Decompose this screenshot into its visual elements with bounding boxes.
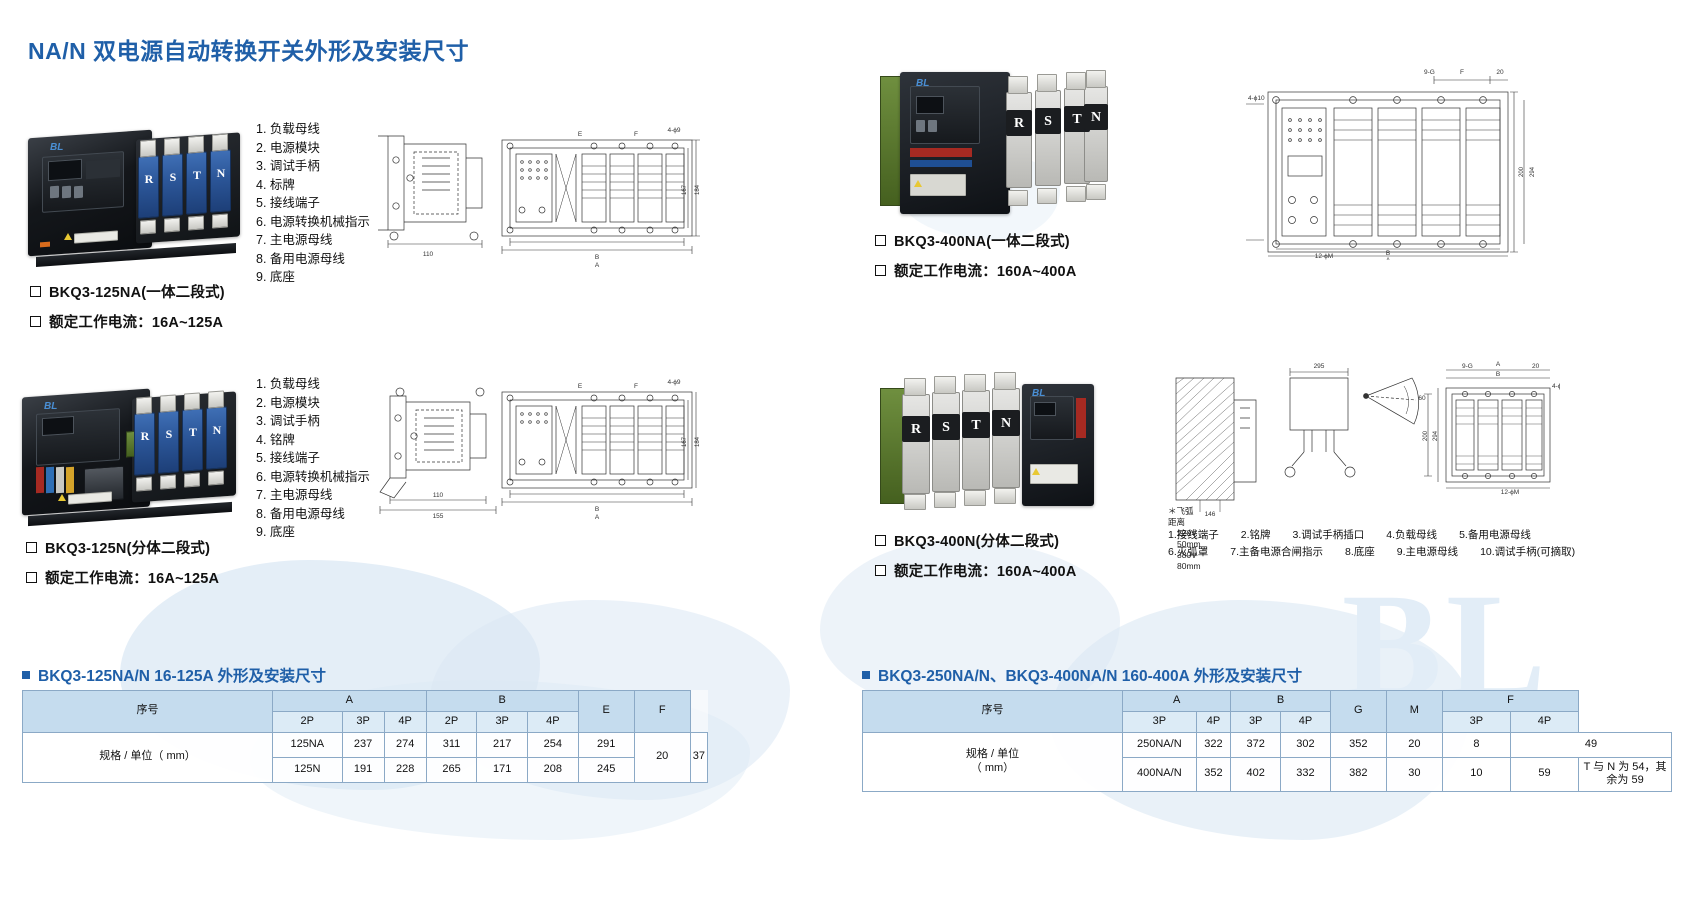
dim-label: E [578, 383, 583, 390]
table-400na-n-dimensions: 序号 A B G M F 3P 4P 3P 4P 3P 4P 规格 / 单位 （… [862, 690, 1672, 792]
subcol-a-3p: 3P [342, 711, 384, 732]
model-row[interactable]: 额定工作电流：16A~125A [30, 311, 225, 332]
arc-note-title: ＊飞弧距离 [1168, 506, 1201, 528]
legend-item: 9. 底座 [256, 268, 370, 287]
cell-f: 37 [690, 732, 707, 782]
col-header-f: F [1442, 691, 1578, 712]
legend-item: 5. 接线端子 [256, 194, 370, 213]
col-header-b: B [1231, 691, 1331, 712]
legend-item: 9.主电源母线 [1397, 544, 1458, 561]
subcol-b-3p: 3P [477, 711, 528, 732]
cell-b-2p: 171 [477, 757, 528, 782]
col-header-serial: 序号 [863, 691, 1123, 733]
dim-label: F [634, 131, 638, 138]
model-label: BKQ3-400NA(一体二段式) [894, 230, 1070, 251]
current-rating-label: 额定工作电流：16A~125A [45, 567, 219, 588]
dim-label: 4-ϕ10 [1552, 383, 1560, 390]
cell-b-4p: 382 [1330, 757, 1386, 792]
drawing-bkq3-400n: 295 146 60 9-G 20 4-ϕ10 A B 12-ϕM 294 20… [1160, 360, 1560, 520]
model-row[interactable]: BKQ3-400NA(一体二段式) [875, 230, 1077, 251]
legend-item: 6. 电源转换机械指示 [256, 468, 370, 487]
product-photo-bkq3-400n: R S T N BL [880, 368, 1095, 528]
col-header-g: G [1330, 691, 1386, 733]
cell-model: 400NA/N [1123, 757, 1197, 792]
legend-item: 2. 电源模块 [256, 139, 370, 158]
svg-text:167: 167 [682, 436, 688, 447]
table-row: 规格 / 单位 （ mm） 250NA/N 322 372 302 352 20… [863, 732, 1672, 757]
section-title: BKQ3-125NA/N 16-125A 外形及安装尺寸 [38, 664, 326, 686]
cell-a-4p: 265 [426, 757, 477, 782]
dim-label: 9-G [1462, 363, 1473, 370]
col-header-a: A [273, 691, 427, 712]
current-rating-label: 额定工作电流：160A~400A [894, 560, 1077, 581]
cell-f-4p: T 与 N 为 54，其余为 59 [1579, 757, 1672, 792]
dim-label: 4-ϕ9 [667, 379, 680, 386]
dim-label: A [595, 262, 600, 268]
legend-item: 8. 备用电源母线 [256, 250, 370, 269]
dim-label: 146 [1205, 511, 1216, 518]
model-row[interactable]: BKQ3-125N(分体二段式) [26, 537, 219, 558]
table-row: 规格 / 单位（ mm） 125NA 237 274 311 217 254 2… [23, 732, 708, 757]
dim-label: 110 [433, 492, 444, 499]
cell-a-4p: 372 [1231, 732, 1281, 757]
subcol-b-4p: 4P [1281, 711, 1331, 732]
table-125na-n-dimensions: 序号 A B E F 2P 3P 4P 2P 3P 4P 规格 / 单位（ mm… [22, 690, 708, 783]
model-row[interactable]: 额定工作电流：160A~400A [875, 260, 1077, 281]
checkbox-icon[interactable] [26, 572, 37, 583]
subcol-a-3p: 3P [1123, 711, 1197, 732]
pole-letter: N [212, 166, 230, 181]
legend-item: 2. 电源模块 [256, 394, 370, 413]
cell-b-3p: 254 [528, 732, 579, 757]
cell-b-2p: 217 [477, 732, 528, 757]
pole-letter: R [136, 429, 154, 444]
subcol-a-4p: 4P [1196, 711, 1231, 732]
subcol-f-3p: 3P [1442, 711, 1510, 732]
cell-b-3p: 208 [528, 757, 579, 782]
legend-item: 7. 主电源母线 [256, 486, 370, 505]
dim-label: B [595, 254, 599, 261]
legend-item: 3.调试手柄插口 [1293, 527, 1365, 544]
cell-b-4p: 245 [578, 757, 634, 782]
legend-item: 6.灭弧罩 [1168, 544, 1208, 561]
legend-item: 7.主备电源合闸指示 [1230, 544, 1323, 561]
checkbox-icon[interactable] [875, 265, 886, 276]
checkbox-icon[interactable] [30, 316, 41, 327]
cell-a-4p: 311 [426, 732, 477, 757]
model-label: BKQ3-125N(分体二段式) [45, 537, 210, 558]
cell-g: 30 [1386, 757, 1442, 792]
model-row[interactable]: 额定工作电流：160A~400A [875, 560, 1077, 581]
pole-letter: R [1006, 116, 1032, 132]
dim-label: A [1496, 361, 1501, 368]
page-title: NA/N 双电源自动转换开关外形及安装尺寸 [28, 32, 469, 66]
subcol-a-4p: 4P [384, 711, 426, 732]
dim-label: 12-ϕM [1315, 253, 1333, 260]
dim-label: 60 [1418, 395, 1426, 402]
col-header-serial: 序号 [23, 691, 273, 733]
dim-label: E [578, 131, 583, 138]
pole-letter: S [1035, 114, 1061, 130]
model-label: BKQ3-400N(分体二段式) [894, 530, 1059, 551]
dim-label: 155 [433, 513, 444, 520]
row-group-label-line2: （ mm） [865, 762, 1120, 776]
section-title: BKQ3-250NA/N、BKQ3-400NA/N 160-400A 外形及安装… [878, 664, 1302, 686]
bullet-square-icon [862, 671, 870, 679]
current-rating-label: 额定工作电流：16A~125A [49, 311, 223, 332]
pole-letter: S [160, 427, 178, 442]
cell-b-3p: 302 [1281, 732, 1331, 757]
dim-label: A [1386, 257, 1391, 260]
legend-item: 1. 负载母线 [256, 375, 370, 394]
models-bkq3-400na: BKQ3-400NA(一体二段式) 额定工作电流：160A~400A [875, 230, 1077, 290]
legend-bkq3-125n: 1. 负载母线 2. 电源模块 3. 调试手柄 4. 铭牌 5. 接线端子 6.… [256, 375, 370, 542]
legend-item: 7. 主电源母线 [256, 231, 370, 250]
product-photo-bkq3-125n: BL R S T N [22, 375, 237, 535]
subcol-b-4p: 4P [528, 711, 579, 732]
cell-a-2p: 237 [342, 732, 384, 757]
legend-item: 5.备用电源母线 [1459, 527, 1531, 544]
subcol-b-3p: 3P [1231, 711, 1281, 732]
drawing-bkq3-400na: 4-ϕ10 9-G F 20 B A 12-ϕM 200 294 [1228, 60, 1538, 260]
cell-b-4p: 352 [1330, 732, 1386, 757]
bullet-square-icon [22, 671, 30, 679]
model-row[interactable]: 额定工作电流：16A~125A [26, 567, 219, 588]
svg-text:200: 200 [1423, 430, 1429, 441]
models-bkq3-125n: BKQ3-125N(分体二段式) 额定工作电流：16A~125A [26, 537, 219, 597]
dim-label: B [1386, 250, 1390, 257]
model-row[interactable]: BKQ3-400N(分体二段式) [875, 530, 1077, 551]
subcol-a-2p: 2P [273, 711, 343, 732]
legend-item: 1. 负载母线 [256, 120, 370, 139]
dim-label: 4-ϕ10 [1248, 95, 1265, 102]
cell-m: 8 [1442, 732, 1510, 757]
pole-letter: N [992, 416, 1020, 432]
pole-letter: T [184, 425, 202, 440]
pole-letter: S [164, 170, 182, 185]
legend-item: 4. 标牌 [256, 176, 370, 195]
legend-item: 8. 备用电源母线 [256, 505, 370, 524]
dim-label: F [634, 383, 638, 390]
current-rating-label: 额定工作电流：160A~400A [894, 260, 1077, 281]
cell-a-3p: 352 [1196, 757, 1231, 792]
row-group-label-line1: 规格 / 单位 [865, 748, 1120, 762]
product-photo-bkq3-125na: BL R S T N [28, 120, 243, 270]
section-header-table-125: BKQ3-125NA/N 16-125A 外形及安装尺寸 [22, 664, 326, 686]
models-bkq3-125na: BKQ3-125NA(一体二段式) 额定工作电流：16A~125A [30, 281, 225, 341]
subcol-b-2p: 2P [426, 711, 477, 732]
subcol-f-4p: 4P [1510, 711, 1578, 732]
col-header-b: B [426, 691, 578, 712]
col-header-m: M [1386, 691, 1442, 733]
svg-text:200: 200 [1519, 166, 1525, 177]
legend-item: 3. 调试手柄 [256, 412, 370, 431]
dim-label: B [1496, 371, 1500, 378]
legend-item: 8.底座 [1345, 544, 1375, 561]
pole-letter: R [140, 172, 158, 187]
dim-label: 20 [1532, 363, 1540, 370]
cell-a-2p: 191 [342, 757, 384, 782]
legend-item: 9. 底座 [256, 523, 370, 542]
legend-item: 1.接线端子 [1168, 527, 1219, 544]
drawing-bkq3-125na: 110 E F 4-ϕ9 B A 167 184 [370, 118, 700, 268]
legend-item: 5. 接线端子 [256, 449, 370, 468]
svg-text:167: 167 [682, 184, 688, 195]
cell-model: 125N [273, 757, 343, 782]
checkbox-icon[interactable] [875, 535, 886, 546]
cell-a-4p: 402 [1231, 757, 1281, 792]
dim-label: 20 [1496, 69, 1504, 76]
dim-label: 110 [423, 251, 434, 258]
legend-item: 6. 电源转换机械指示 [256, 213, 370, 232]
dim-label: B [595, 506, 599, 513]
legend-item: 3. 调试手柄 [256, 157, 370, 176]
legend-bkq3-400n: 1.接线端子 2.铭牌 3.调试手柄插口 4.负载母线 5.备用电源母线 6.灭… [1168, 527, 1575, 561]
pole-letter: N [1084, 110, 1108, 126]
checkbox-icon[interactable] [875, 235, 886, 246]
cell-a-3p: 228 [384, 757, 426, 782]
section-header-table-400: BKQ3-250NA/N、BKQ3-400NA/N 160-400A 外形及安装… [862, 664, 1302, 686]
row-group-label: 规格 / 单位 （ mm） [863, 732, 1123, 792]
cell-model: 250NA/N [1123, 732, 1197, 757]
dim-label: 295 [1314, 363, 1325, 370]
cell-f: 49 [1510, 732, 1671, 757]
pole-letter: T [188, 168, 206, 183]
legend-item: 4.负载母线 [1386, 527, 1437, 544]
pole-letter: N [208, 423, 226, 438]
cell-a-3p: 322 [1196, 732, 1231, 757]
legend-item: 2.铭牌 [1241, 527, 1271, 544]
cell-a-3p: 274 [384, 732, 426, 757]
svg-text:294: 294 [1530, 166, 1536, 177]
checkbox-icon[interactable] [26, 542, 37, 553]
svg-text:184: 184 [695, 184, 700, 195]
cell-b-3p: 332 [1281, 757, 1331, 792]
col-header-e: E [578, 691, 634, 733]
dim-label: 9-G [1424, 69, 1435, 76]
svg-text:294: 294 [1433, 430, 1439, 441]
cell-e: 20 [634, 732, 690, 782]
model-row[interactable]: BKQ3-125NA(一体二段式) [30, 281, 225, 302]
cell-m: 10 [1442, 757, 1510, 792]
model-label: BKQ3-125NA(一体二段式) [49, 281, 225, 302]
dim-label: 12-ϕM [1501, 489, 1519, 496]
cell-f-3p: 59 [1510, 757, 1578, 792]
pole-letter: T [962, 418, 990, 434]
checkbox-icon[interactable] [30, 286, 41, 297]
dim-label: F [1460, 69, 1464, 76]
pole-letter: S [932, 420, 960, 436]
legend-item: 4. 铭牌 [256, 431, 370, 450]
drawing-bkq3-125n: 110 155 E F 4-ϕ9 B A 167 184 [370, 370, 700, 520]
cell-g: 20 [1386, 732, 1442, 757]
cell-model: 125NA [273, 732, 343, 757]
models-bkq3-400n: BKQ3-400N(分体二段式) 额定工作电流：160A~400A [875, 530, 1077, 590]
cell-b-4p: 291 [578, 732, 634, 757]
checkbox-icon[interactable] [875, 565, 886, 576]
dim-label: 4-ϕ9 [667, 127, 680, 134]
col-header-f: F [634, 691, 690, 733]
legend-item: 10.调试手柄(可摘取) [1480, 544, 1575, 561]
svg-text:184: 184 [695, 436, 700, 447]
legend-bkq3-125na: 1. 负载母线 2. 电源模块 3. 调试手柄 4. 标牌 5. 接线端子 6.… [256, 120, 370, 287]
pole-letter: R [902, 422, 930, 438]
col-header-a: A [1123, 691, 1231, 712]
product-photo-bkq3-400na: BL R S T N [880, 62, 1110, 237]
dim-label: A [595, 514, 600, 520]
row-group-label: 规格 / 单位（ mm） [23, 732, 273, 782]
